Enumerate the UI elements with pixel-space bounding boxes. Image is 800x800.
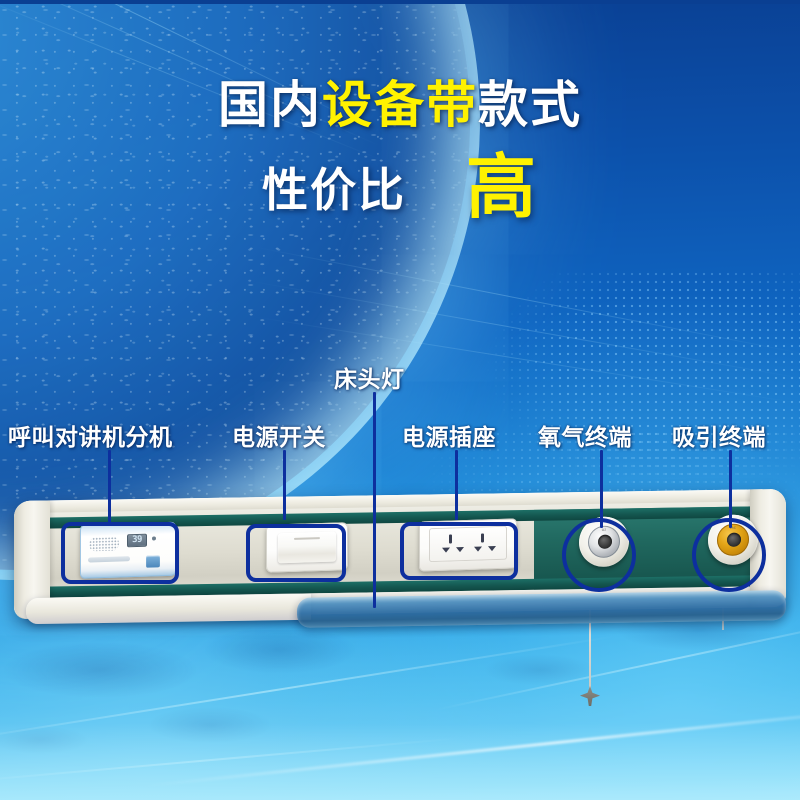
leader-line-power-switch <box>283 450 286 520</box>
leader-line-bed-lamp <box>373 392 376 608</box>
callout-suction-label: 吸引终端 <box>672 418 766 452</box>
leader-line-power-socket <box>455 450 458 520</box>
callout-intercom-label: 呼叫对讲机分机 <box>8 418 173 452</box>
promo-banner: 国内设备带款式 性价比 高 呼叫对讲机分机 电源开关 床头灯 电源插座 氧气终端… <box>0 0 800 800</box>
callout-bed-lamp-label: 床头灯 <box>334 360 405 394</box>
leader-line-oxygen <box>600 450 603 528</box>
callout-power-switch-label: 电源开关 <box>232 418 326 452</box>
leader-line-intercom <box>108 450 111 524</box>
callout-oxygen-label: 氧气终端 <box>538 418 632 452</box>
callout-power-socket-label: 电源插座 <box>402 418 496 452</box>
callout-layer: 呼叫对讲机分机 电源开关 床头灯 电源插座 氧气终端 吸引终端 <box>0 0 800 800</box>
leader-line-suction <box>729 450 732 528</box>
